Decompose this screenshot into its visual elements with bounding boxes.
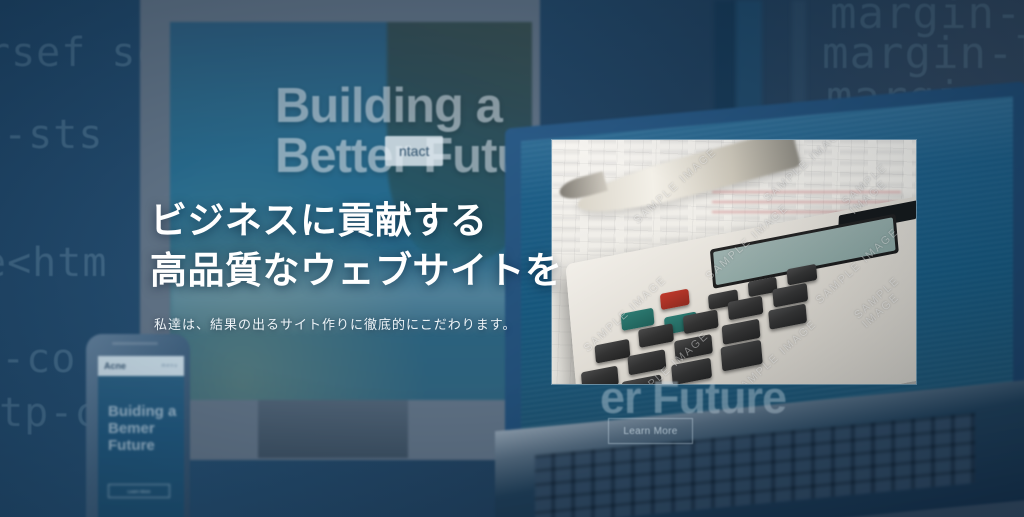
- calculator-key-7: [594, 339, 630, 364]
- phone-logo[interactable]: Acne: [104, 361, 126, 371]
- phone-learn-more-button[interactable]: Learn More: [108, 484, 170, 498]
- calculator-key-eq: [769, 304, 808, 330]
- calculator-key-6: [675, 334, 714, 360]
- phone-headline: Buiding a Bemer Future: [108, 404, 176, 454]
- hero-banner: rsef sc o-sts e<htm b-co ttp-co margin-t…: [0, 0, 1024, 517]
- hamburger-icon[interactable]: menu: [161, 363, 178, 369]
- calculator-key-clear: [660, 289, 690, 310]
- phone-nav-bar: Acne menu: [98, 356, 184, 376]
- calculator-sample-photo: SAMPLE IMAGE SAMPLE IMAGE SAMPLE IMAGE S…: [552, 140, 916, 384]
- calculator-key-8: [639, 323, 675, 348]
- page-title: ビジネスに貢献する 高品質なウェブサイトを: [150, 196, 563, 297]
- monitor-stand: [258, 400, 408, 458]
- code-line-left-2: o-sts: [0, 112, 103, 158]
- code-line-left-1: rsef sc: [0, 30, 162, 76]
- code-line-left-3: e<htm: [0, 240, 107, 286]
- phone-headline-line-1: Buiding a: [108, 404, 176, 421]
- phone-speaker: [112, 342, 158, 345]
- headline-line-2: 高品質なウェブサイトを: [150, 246, 563, 296]
- laptop-keyboard: [535, 413, 975, 517]
- laptop-nav-contact[interactable]: ntact: [385, 136, 443, 166]
- phone-body: Acne menu Buiding a Bemer Future Learn M…: [86, 334, 190, 517]
- hero-subtitle: 私達は、結果の出るサイト作りに徹底的にこだわります。: [154, 314, 563, 333]
- calculator-key-plus: [721, 340, 763, 372]
- phone-headline-line-3: Future: [108, 438, 176, 455]
- phone-screen: Acne menu Buiding a Bemer Future Learn M…: [98, 356, 184, 517]
- phone-mockup: Acne menu Buiding a Bemer Future Learn M…: [86, 334, 190, 517]
- code-line-left-4: b-co: [0, 336, 76, 382]
- headline-line-1: ビジネスに貢献する: [150, 196, 563, 246]
- laptop-ghost-text: er Future: [600, 372, 786, 424]
- hero-copy: ビジネスに貢献する 高品質なウェブサイトを 私達は、結果の出るサイト作りに徹底的…: [150, 196, 563, 333]
- phone-headline-line-2: Bemer: [108, 421, 176, 438]
